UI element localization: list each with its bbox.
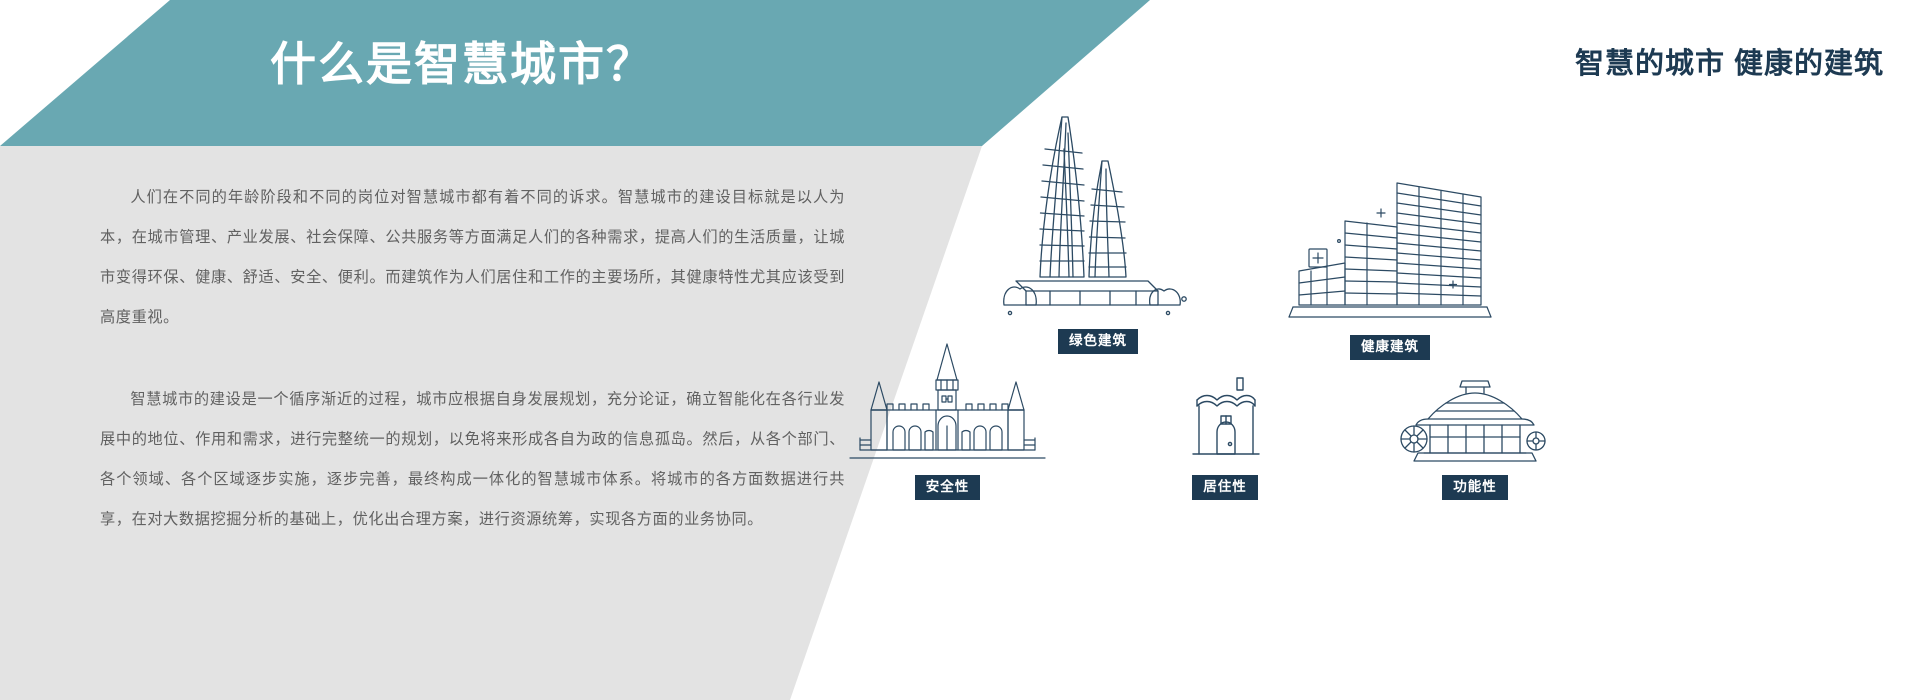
twin-towers-icon [998, 109, 1198, 319]
tagline-heading: 智慧的城市 健康的建筑 [1575, 40, 1884, 82]
article-body: 人们在不同的年龄阶段和不同的岗位对智慧城市都有着不同的诉求。智慧城市的建设目标就… [100, 178, 845, 540]
badge-health-building: 健康建筑 [1350, 335, 1430, 360]
badge-functionality: 功能性 [1442, 475, 1508, 500]
paragraph-2: 智慧城市的建设是一个循序渐近的过程，城市应根据自身发展规划，充分论证，确立智能化… [100, 380, 845, 540]
badge-safety: 安全性 [915, 475, 981, 500]
illustration-group: 绿色建筑 [830, 95, 1920, 525]
badge-green-building: 绿色建筑 [1058, 329, 1138, 354]
illustration-safety: 安全性 [840, 340, 1055, 500]
house-icon [1185, 370, 1265, 465]
illustration-green-building: 绿色建筑 [998, 109, 1198, 354]
hospital-building-icon [1285, 175, 1495, 325]
badge-livability: 居住性 [1192, 475, 1258, 500]
illustration-health-building: 健康建筑 [1285, 175, 1495, 360]
illustration-functionality: 功能性 [1400, 375, 1550, 500]
page-title: 什么是智慧城市？ [270, 33, 654, 95]
illustration-livability: 居住性 [1185, 370, 1265, 500]
paragraph-1: 人们在不同的年龄阶段和不同的岗位对智慧城市都有着不同的诉求。智慧城市的建设目标就… [100, 178, 845, 338]
castle-icon [840, 340, 1055, 465]
pavilion-icon [1400, 375, 1550, 465]
